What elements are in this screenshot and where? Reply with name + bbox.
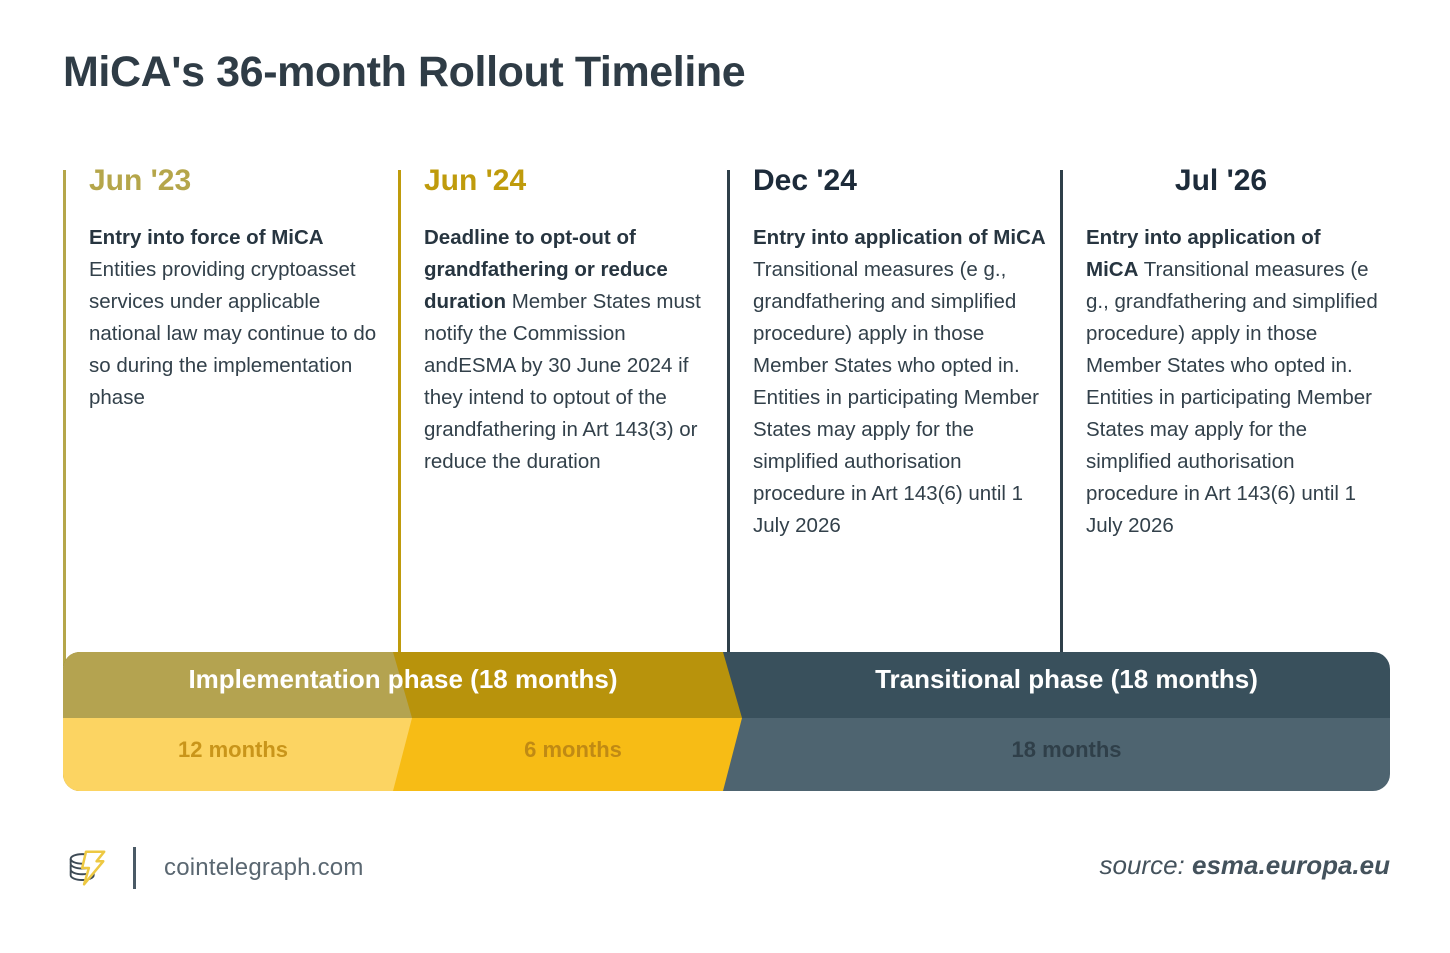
column-date-label: Jun '24 <box>424 166 715 196</box>
cointelegraph-logo-icon <box>63 845 109 891</box>
column-body-text: Transitional measures (e g., grandfather… <box>753 258 1039 537</box>
column-body-heading: Entry into force of MiCA <box>89 226 324 249</box>
column-body-text: Transitional measures (e g., grandfather… <box>1086 258 1378 537</box>
source-attribution: source: esma.europa.eu <box>1100 850 1390 881</box>
source-label: source: <box>1100 850 1185 880</box>
column-date-label: Jun '23 <box>89 166 386 196</box>
phase-segment-implementation-olive <box>63 652 412 718</box>
footer-site-label: cointelegraph.com <box>164 854 364 882</box>
column-rule <box>1060 170 1063 666</box>
footer-divider <box>133 847 136 889</box>
source-value: esma.europa.eu <box>1192 850 1390 880</box>
column-body-heading: Entry into application of MiCA <box>753 226 1046 249</box>
column-rule <box>727 170 730 666</box>
timeline-column-jun-24: Jun '24 Deadline to opt-out of grandfath… <box>398 166 727 656</box>
column-body: Deadline to opt-out of grandfathering or… <box>424 222 715 478</box>
lightning-bolt-icon <box>82 852 104 885</box>
timeline-columns: Jun '23 Entry into force of MiCA Entitie… <box>63 166 1390 656</box>
infographic-root: MiCA's 36-month Rollout Timeline Jun '23… <box>0 0 1450 953</box>
column-body: Entry into application of MiCA Transitio… <box>1086 222 1378 542</box>
timeline-column-jun-23: Jun '23 Entry into force of MiCA Entitie… <box>63 166 398 656</box>
column-body: Entry into force of MiCA Entities provid… <box>89 222 386 414</box>
column-rule <box>398 170 401 666</box>
phase-bar: Implementation phase (18 months) Transit… <box>63 652 1390 791</box>
column-date-label: Dec '24 <box>753 166 1048 196</box>
timeline-column-jul-26: Jul '26 Entry into application of MiCA T… <box>1060 166 1390 656</box>
phase-bar-graphic <box>63 652 1390 791</box>
page-title: MiCA's 36-month Rollout Timeline <box>63 48 745 97</box>
timeline-column-dec-24: Dec '24 Entry into application of MiCA T… <box>727 166 1060 656</box>
column-body: Entry into application of MiCA Transitio… <box>753 222 1048 542</box>
footer: cointelegraph.com source: esma.europa.eu <box>63 836 1390 906</box>
duration-segment-12-months <box>63 718 412 791</box>
column-body-text: Entities providing cryptoasset services … <box>89 258 376 409</box>
column-body-text: Member States must notify the Commission… <box>424 290 701 473</box>
column-date-label: Jul '26 <box>1086 166 1378 196</box>
brand-block: cointelegraph.com <box>63 836 364 900</box>
column-rule <box>63 170 66 666</box>
